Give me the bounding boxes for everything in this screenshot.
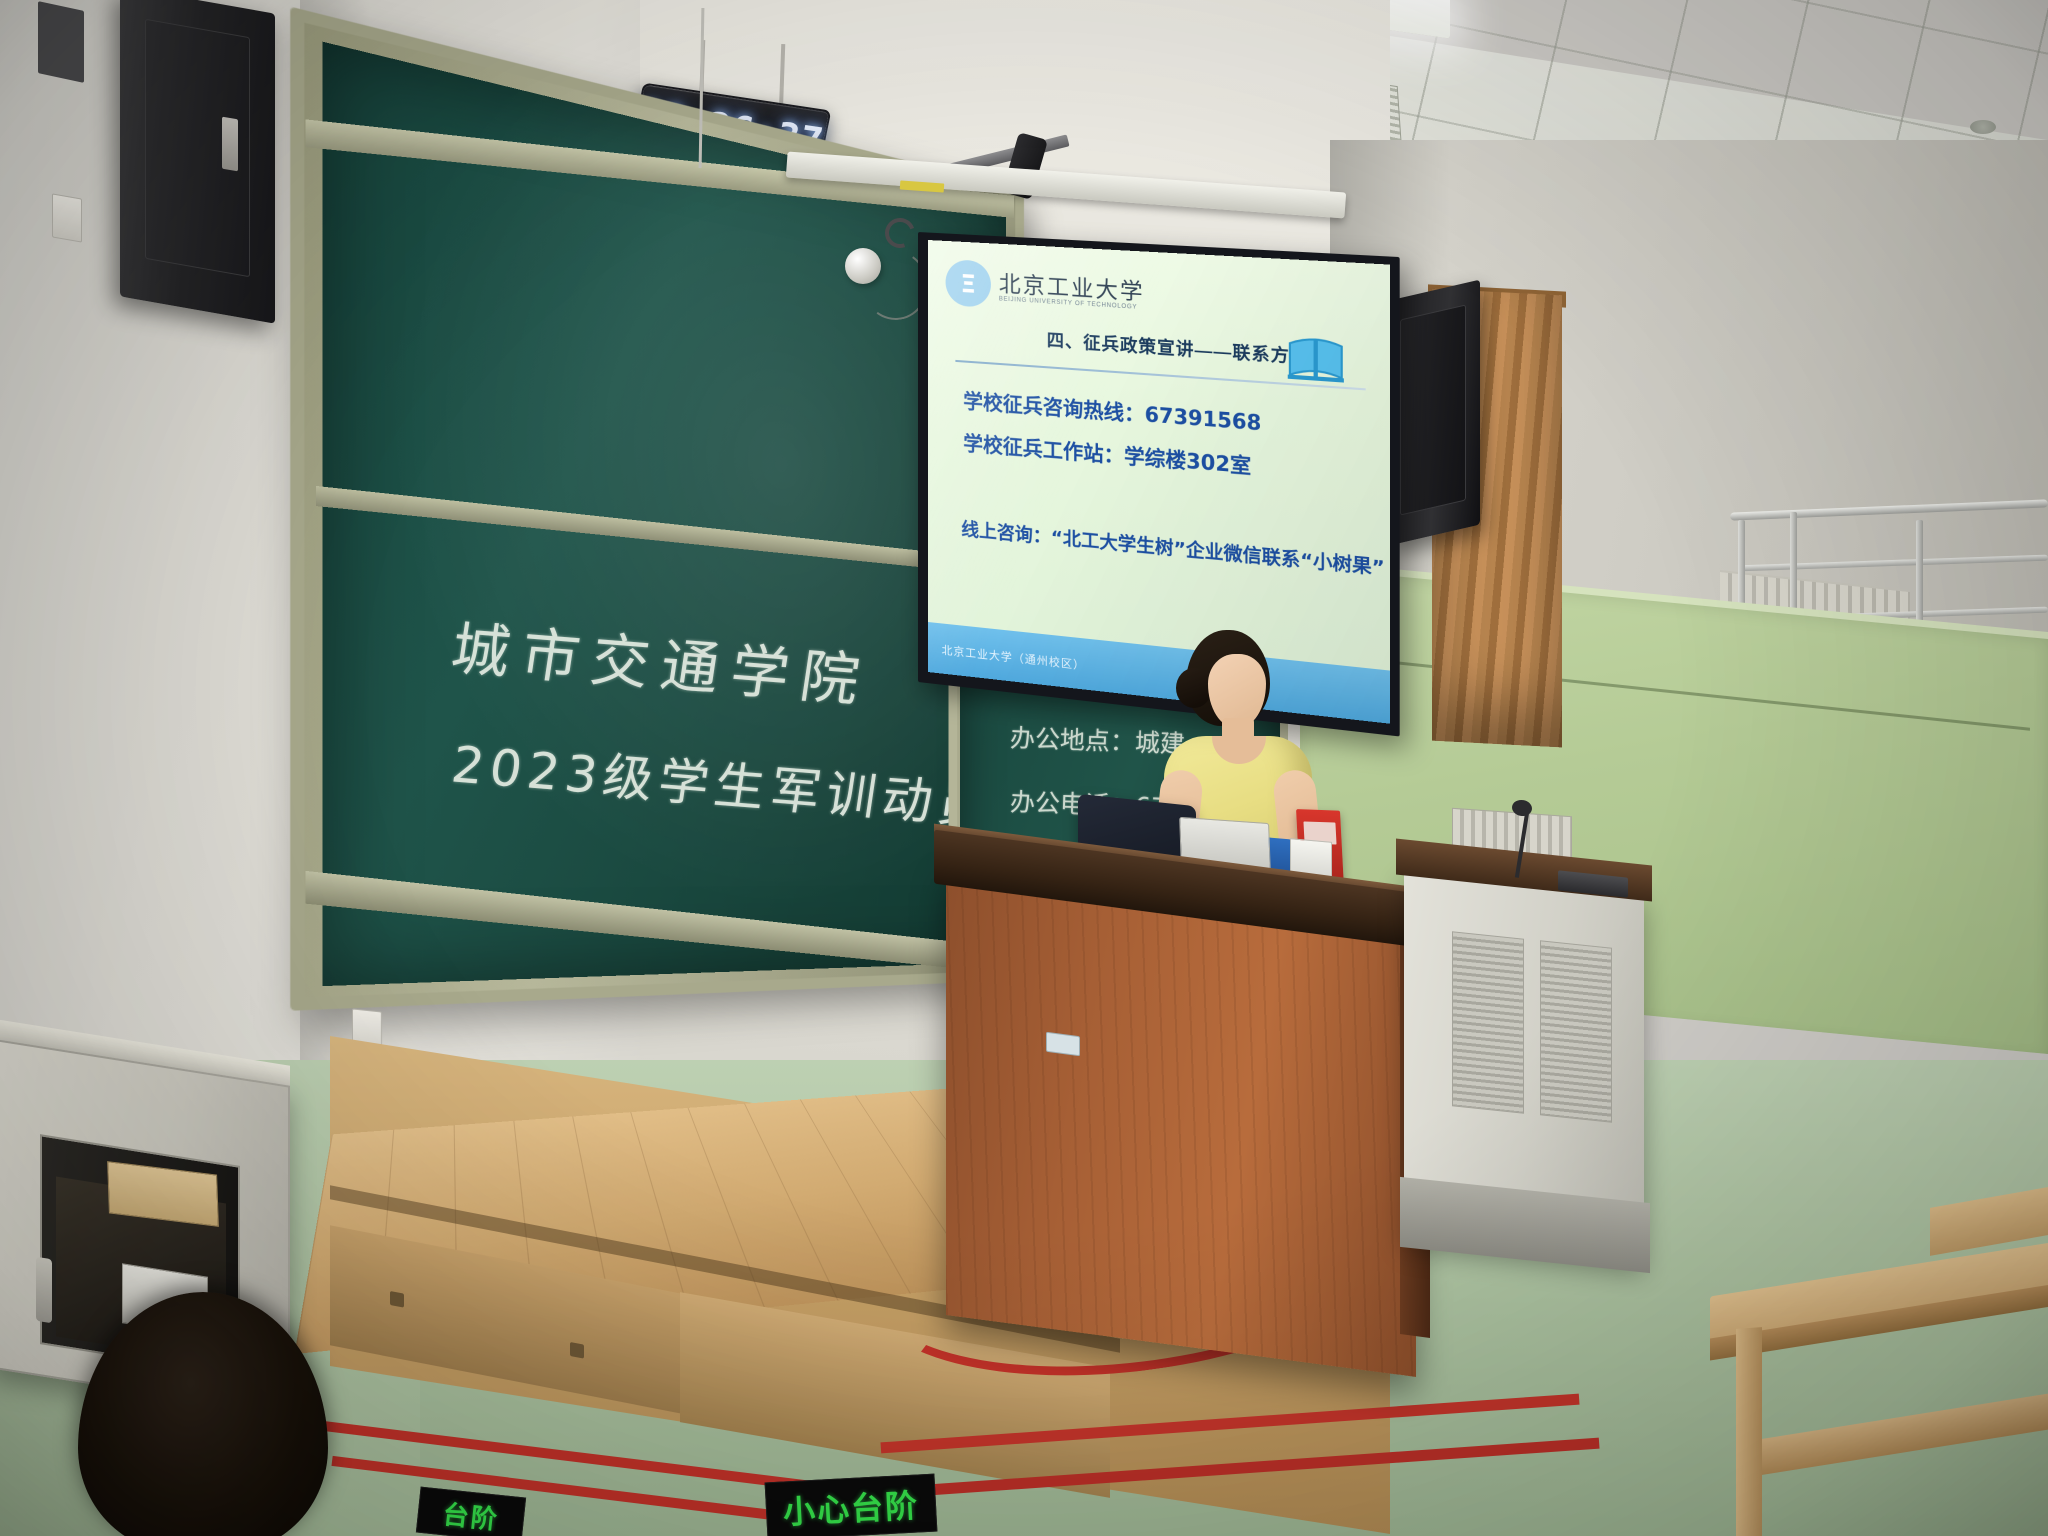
- slide-title: 四、征兵政策宣讲——联系方式: [1047, 326, 1309, 369]
- university-logo-icon: Ξ: [946, 259, 991, 308]
- slide-hotline-text: 学校征兵咨询热线：67391568: [963, 385, 1261, 437]
- lecture-hall-photo: 10:26:37 城市交通学院 2023级学生军训动员会 办公地点：城建… 办公…: [0, 0, 2048, 1536]
- wall-outlet[interactable]: [52, 193, 82, 242]
- slide-online-consult-text: 线上咨询：“北工大学生树”企业微信联系“小树果”: [961, 515, 1384, 581]
- foreground-desk-leg: [1736, 1327, 1762, 1536]
- podium-asset-label: [1046, 1032, 1080, 1056]
- slide-office-text: 学校征兵工作站：学综楼302室: [963, 427, 1251, 480]
- speaker-badge: [222, 117, 238, 172]
- ceiling-downlight-off: [1970, 120, 1996, 134]
- speaker-mount: [38, 1, 84, 83]
- stage-vent-hole: [390, 1291, 404, 1308]
- stage-vent-hole: [570, 1342, 584, 1359]
- person-hair-bun: [1176, 668, 1212, 708]
- podium-wood-grain: [946, 865, 1416, 1377]
- slide-footer-text: 北京工业大学（通州校区）: [942, 641, 1086, 673]
- cabinet-louvre-door[interactable]: [1540, 940, 1612, 1123]
- cabinet-louvre-door[interactable]: [1452, 931, 1524, 1114]
- person-face: [1208, 654, 1266, 728]
- cabinet-handle[interactable]: [36, 1257, 52, 1324]
- open-book-icon: [1286, 332, 1346, 384]
- step-warning-sign: 小心台阶: [765, 1474, 938, 1536]
- logo-mark-glyph: Ξ: [960, 270, 976, 296]
- speaker-grille: [1400, 304, 1466, 515]
